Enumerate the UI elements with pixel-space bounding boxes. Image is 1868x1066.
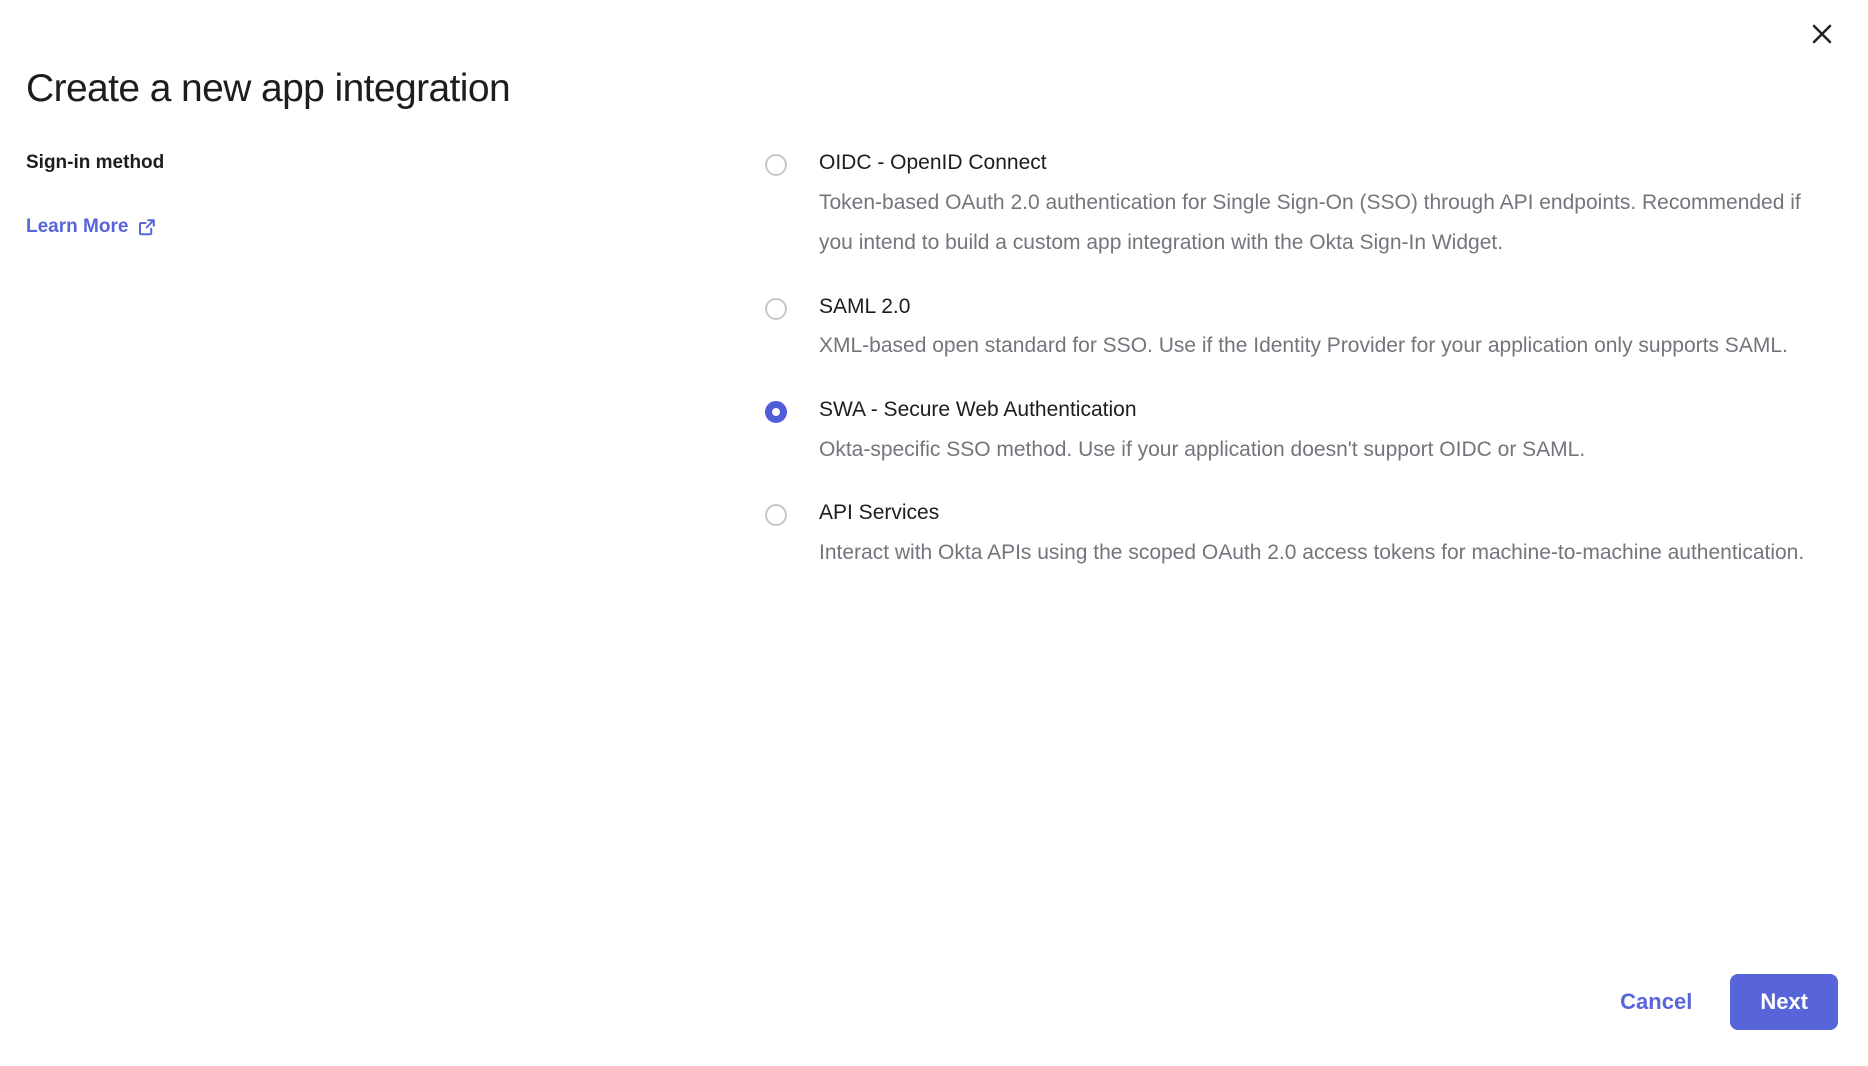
next-button[interactable]: Next [1730, 974, 1838, 1030]
option-oidc[interactable]: OIDC - OpenID Connect Token-based OAuth … [765, 150, 1835, 264]
option-swa[interactable]: SWA - Secure Web Authentication Okta-spe… [765, 397, 1835, 470]
sign-in-method-label: Sign-in method [26, 150, 586, 177]
create-app-integration-dialog: Create a new app integration Sign-in met… [0, 0, 1868, 1066]
dialog-title: Create a new app integration [26, 66, 510, 113]
option-api-services-description: Interact with Okta APIs using the scoped… [819, 533, 1835, 573]
option-swa-description: Okta-specific SSO method. Use if your ap… [819, 430, 1835, 470]
learn-more-label: Learn More [26, 215, 128, 240]
close-icon [1809, 21, 1835, 47]
radio-saml[interactable] [765, 298, 787, 320]
radio-oidc[interactable] [765, 154, 787, 176]
option-oidc-description: Token-based OAuth 2.0 authentication for… [819, 183, 1835, 264]
sign-in-method-radio-group[interactable]: OIDC - OpenID Connect Token-based OAuth … [765, 150, 1835, 573]
radio-swa[interactable] [765, 401, 787, 423]
option-saml[interactable]: SAML 2.0 XML-based open standard for SSO… [765, 294, 1835, 367]
radio-api-services[interactable] [765, 504, 787, 526]
cancel-button[interactable]: Cancel [1616, 979, 1696, 1025]
option-api-services-title: API Services [819, 500, 1835, 527]
option-swa-title: SWA - Secure Web Authentication [819, 397, 1835, 424]
sign-in-method-column: Sign-in method Learn More [26, 150, 586, 239]
close-dialog-button[interactable] [1798, 10, 1846, 58]
option-saml-description: XML-based open standard for SSO. Use if … [819, 326, 1835, 366]
option-oidc-title: OIDC - OpenID Connect [819, 150, 1835, 177]
option-saml-title: SAML 2.0 [819, 294, 1835, 321]
dialog-footer: Cancel Next [1616, 974, 1838, 1030]
option-api-services[interactable]: API Services Interact with Okta APIs usi… [765, 500, 1835, 573]
external-link-icon [137, 217, 157, 237]
learn-more-link[interactable]: Learn More [26, 215, 157, 240]
